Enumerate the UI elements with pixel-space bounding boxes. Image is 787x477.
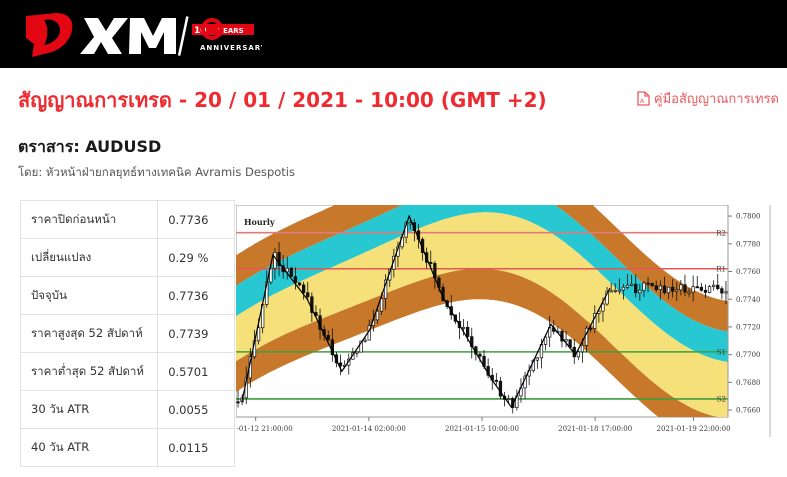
candle-body	[429, 262, 432, 263]
candle-body	[663, 286, 666, 293]
trading-signals-guide-link[interactable]: A คู่มือสัญญาณการเทรด	[637, 88, 779, 109]
candle-body	[577, 352, 580, 357]
candle-body	[614, 290, 617, 291]
candle-body	[237, 402, 240, 403]
table-row: ปัจจุบัน0.7736	[21, 277, 235, 315]
table-row: 40 วัน ATR0.0115	[21, 429, 235, 467]
table-row: 30 วัน ATR0.0055	[21, 391, 235, 429]
stat-label: ราคาสูงสุด 52 สัปดาห์	[21, 315, 158, 353]
chart-timeframe-label: Hourly	[244, 217, 275, 227]
candle-body	[622, 287, 625, 290]
stat-value: 0.0055	[158, 391, 235, 429]
stat-value: 0.7739	[158, 315, 235, 353]
y-tick-label: 0.7720	[736, 324, 761, 332]
candle-body	[581, 345, 584, 352]
x-tick-label: 2021-01-19 22:00:00	[657, 425, 731, 433]
instrument-title: ตราสาร: AUDUSD	[18, 135, 161, 160]
candle-body	[536, 358, 539, 360]
stat-label: 40 วัน ATR	[21, 429, 158, 467]
candle-body	[376, 311, 379, 320]
candle-body	[659, 286, 662, 290]
candle-body	[610, 291, 613, 292]
candle-body	[655, 286, 658, 290]
y-tick-label: 0.7700	[736, 351, 761, 359]
x-tick-label: 2021-01-14 02:00:00	[332, 425, 406, 433]
candle-body	[462, 327, 465, 328]
candle-body	[700, 287, 703, 290]
y-tick-label: 0.7780	[736, 240, 761, 248]
candle-body	[708, 287, 711, 293]
candle-body	[688, 292, 691, 293]
price-chart-svg: Hourly R2R1S1S2 0.78000.77800.77600.7740…	[236, 205, 781, 440]
candle-body	[696, 287, 699, 288]
candle-body	[643, 283, 646, 290]
x-axis: 2021-01-12 21:00:002021-01-14 02:00:0020…	[236, 417, 731, 433]
candle-body	[409, 223, 412, 224]
candle-body	[716, 285, 719, 289]
page-title: สัญญาณการเทรด - 20 / 01 / 2021 - 10:00 (…	[18, 84, 547, 116]
y-tick-label: 0.7660	[736, 407, 761, 415]
stats-table-body: ราคาปิดก่อนหน้า0.7736เปลี่ยนแปลง0.29 %ปั…	[21, 201, 235, 467]
level-label-s1: S1	[717, 348, 726, 356]
svg-text:A: A	[640, 98, 645, 105]
title-row: สัญญาณการเทรด - 20 / 01 / 2021 - 10:00 (…	[0, 84, 787, 118]
y-tick-label: 0.7760	[736, 268, 761, 276]
xm-logo[interactable]: 10 YEARS ANNIVERSARY	[22, 8, 262, 60]
candle-body	[364, 340, 367, 341]
candle-body	[306, 293, 309, 297]
table-row: ราคาต่ำสุด 52 สัปดาห์0.5701	[21, 353, 235, 391]
table-row: ราคาปิดก่อนหน้า0.7736	[21, 201, 235, 239]
candle-body	[651, 283, 654, 286]
candle-body	[647, 283, 650, 284]
stat-value: 0.7736	[158, 277, 235, 315]
candle-body	[684, 285, 687, 292]
candle-body	[327, 335, 330, 339]
stat-label: ราคาปิดก่อนหน้า	[21, 201, 158, 239]
candle-body	[274, 252, 277, 268]
candle-body	[290, 268, 293, 276]
svg-text:ANNIVERSARY: ANNIVERSARY	[200, 44, 262, 52]
candle-body	[298, 283, 301, 285]
table-row: เปลี่ยนแปลง0.29 %	[21, 239, 235, 277]
candle-body	[495, 380, 498, 381]
candle-body	[675, 290, 678, 291]
author-byline: โดย: หัวหน้าฝ่ายกลยุทธ์ทางเทคนิค Avramis…	[18, 164, 295, 182]
candle-body	[507, 398, 510, 399]
candle-body	[356, 352, 359, 353]
x-tick-label: 2021-01-15 10:00:00	[445, 425, 519, 433]
candle-body	[479, 354, 482, 356]
candle-body	[725, 292, 728, 293]
price-chart-panel[interactable]: Hourly R2R1S1S2 0.78000.77800.77600.7740…	[236, 205, 781, 440]
x-tick-label: 2021-01-18 17:00:00	[558, 425, 632, 433]
candle-body	[704, 290, 707, 292]
candle-body	[634, 284, 637, 293]
candle-body	[667, 287, 670, 293]
level-label-s2: S2	[717, 396, 726, 404]
level-label-r2: R2	[716, 229, 726, 237]
stat-label: เปลี่ยนแปลง	[21, 239, 158, 277]
candle-body	[618, 290, 621, 291]
candle-body	[466, 327, 469, 336]
level-label-r1: R1	[716, 265, 726, 273]
candle-body	[639, 290, 642, 293]
candle-body	[602, 304, 605, 311]
stat-label: ปัจจุบัน	[21, 277, 158, 315]
table-row: ราคาสูงสุด 52 สัปดาห์0.7739	[21, 315, 235, 353]
candle-body	[302, 285, 305, 293]
candle-body	[626, 285, 629, 287]
candle-body	[589, 328, 592, 329]
x-tick-label: 2021-01-12 21:00:00	[236, 425, 293, 433]
candle-body	[712, 285, 715, 286]
pdf-document-icon: A	[637, 91, 650, 106]
site-header-bar: 10 YEARS ANNIVERSARY	[0, 0, 787, 68]
candle-body	[671, 287, 674, 291]
candle-body	[630, 284, 633, 285]
y-tick-label: 0.7740	[736, 296, 761, 304]
candle-body	[680, 285, 683, 290]
stat-value: 0.29 %	[158, 239, 235, 277]
instrument-stats-table: ราคาปิดก่อนหน้า0.7736เปลี่ยนแปลง0.29 %ปั…	[20, 200, 235, 467]
y-tick-label: 0.7680	[736, 379, 761, 387]
guide-link-label: คู่มือสัญญาณการเทรด	[654, 88, 779, 109]
stat-value: 0.7736	[158, 201, 235, 239]
stat-value: 0.0115	[158, 429, 235, 467]
candle-body	[380, 298, 383, 311]
stat-label: 30 วัน ATR	[21, 391, 158, 429]
candle-body	[721, 289, 724, 293]
stat-label: ราคาต่ำสุด 52 สัปดาห์	[21, 353, 158, 391]
stat-value: 0.5701	[158, 353, 235, 391]
y-axis: 0.78000.77800.77600.77400.77200.77000.76…	[728, 205, 770, 437]
candle-body	[692, 287, 695, 292]
y-tick-label: 0.7800	[736, 213, 761, 221]
